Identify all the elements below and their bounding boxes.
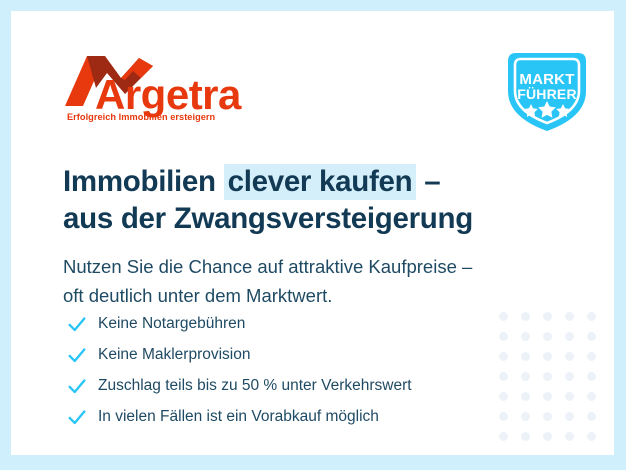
benefits-list: Keine Notargebühren Keine Maklerprovisio… <box>66 308 536 432</box>
dot <box>543 312 552 321</box>
dot <box>521 432 530 441</box>
list-item: Zuschlag teils bis zu 50 % unter Verkehr… <box>66 370 536 401</box>
dot <box>587 432 596 441</box>
dot <box>543 392 552 401</box>
dot <box>565 332 574 341</box>
dot <box>543 332 552 341</box>
argetra-logo[interactable]: Argetra Erfolgreich Immobilien ersteiger… <box>63 54 263 122</box>
dot <box>543 432 552 441</box>
headline-line-1: Immobilien clever kaufen – <box>63 163 583 200</box>
headline-highlight: clever kaufen <box>224 164 417 200</box>
shield-icon: MARKT FÜHRER <box>498 47 596 135</box>
dot <box>587 332 596 341</box>
dot <box>587 372 596 381</box>
dot <box>543 372 552 381</box>
promo-banner: Argetra Erfolgreich Immobilien ersteiger… <box>0 0 626 470</box>
benefit-label: Zuschlag teils bis zu 50 % unter Verkehr… <box>98 378 412 394</box>
dot <box>587 392 596 401</box>
dot <box>543 352 552 361</box>
dot <box>587 312 596 321</box>
dot <box>565 352 574 361</box>
dot <box>565 312 574 321</box>
list-item: Keine Notargebühren <box>66 308 536 339</box>
markt-fuehrer-badge: MARKT FÜHRER <box>498 47 596 135</box>
banner-canvas: Argetra Erfolgreich Immobilien ersteiger… <box>11 11 614 455</box>
dot <box>565 372 574 381</box>
headline-post: – <box>416 165 440 198</box>
dot <box>543 412 552 421</box>
check-icon <box>66 406 88 428</box>
headline: Immobilien clever kaufen – aus der Zwang… <box>63 163 583 237</box>
benefit-label: In vielen Fällen ist ein Vorabkauf mögli… <box>98 409 379 425</box>
check-icon <box>66 375 88 397</box>
dot <box>587 352 596 361</box>
dot <box>565 392 574 401</box>
argetra-logo-svg: Argetra Erfolgreich Immobilien ersteiger… <box>63 54 263 122</box>
badge-line2: FÜHRER <box>517 86 577 102</box>
dot <box>499 432 508 441</box>
subheading: Nutzen Sie die Chance auf attraktive Kau… <box>63 252 583 310</box>
subheading-line-1: Nutzen Sie die Chance auf attraktive Kau… <box>63 252 583 281</box>
logo-wordmark: Argetra <box>95 71 242 118</box>
subheading-line-2: oft deutlich unter dem Marktwert. <box>63 281 583 310</box>
dot <box>565 412 574 421</box>
check-icon <box>66 313 88 335</box>
dot <box>565 432 574 441</box>
headline-pre: Immobilien <box>63 165 224 198</box>
check-icon <box>66 344 88 366</box>
headline-line-2: aus der Zwangsversteigerung <box>63 200 583 237</box>
dot <box>587 412 596 421</box>
benefit-label: Keine Maklerprovision <box>98 347 251 363</box>
benefit-label: Keine Notargebühren <box>98 316 245 332</box>
logo-tagline: Erfolgreich Immobilien ersteigern <box>67 112 216 122</box>
list-item: In vielen Fällen ist ein Vorabkauf mögli… <box>66 401 536 432</box>
list-item: Keine Maklerprovision <box>66 339 536 370</box>
